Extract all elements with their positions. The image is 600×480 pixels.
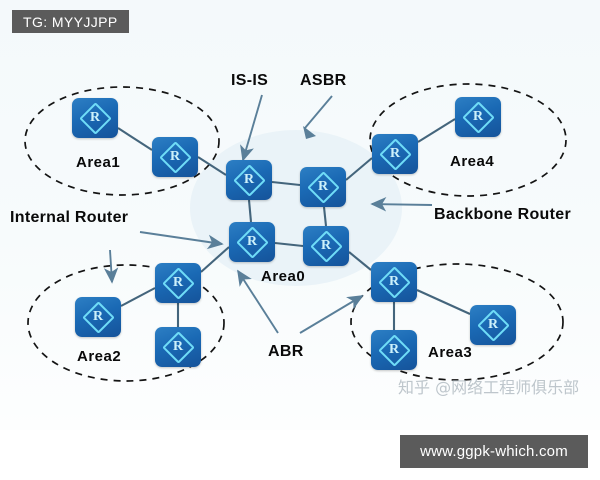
label-internal-router: Internal Router	[10, 209, 128, 227]
router-area3-internal[interactable]: R	[470, 305, 516, 345]
router-glyph: R	[75, 297, 121, 337]
router-glyph: R	[303, 226, 349, 266]
leader-backbone-router	[372, 204, 432, 205]
router-area0-top-left[interactable]: R	[226, 160, 272, 200]
router-glyph: R	[300, 167, 346, 207]
router-area1-abr[interactable]: R	[152, 137, 198, 177]
link-area2-abr-internal	[121, 288, 155, 306]
router-area2-lower[interactable]: R	[155, 327, 201, 367]
router-glyph: R	[229, 222, 275, 262]
label-abr: ABR	[268, 343, 304, 361]
router-glyph: R	[371, 262, 417, 302]
router-area2-internal[interactable]: R	[75, 297, 121, 337]
label-area0: Area0	[261, 268, 305, 285]
router-glyph: R	[455, 97, 501, 137]
url-badge: www.ggpk-which.com	[400, 435, 588, 468]
link-area4-abr-internal	[418, 119, 455, 142]
router-area4-internal[interactable]: R	[455, 97, 501, 137]
router-glyph: R	[155, 327, 201, 367]
router-area3-lower[interactable]: R	[371, 330, 417, 370]
router-glyph: R	[372, 134, 418, 174]
router-glyph: R	[226, 160, 272, 200]
label-is-is: IS-IS	[231, 72, 268, 90]
router-area3-abr[interactable]: R	[371, 262, 417, 302]
label-asbr: ASBR	[300, 72, 347, 90]
tag-badge: TG: MYYJJPP	[12, 10, 129, 33]
label-area2: Area2	[77, 348, 121, 365]
screenshot-root: R R R R R R R R R R R R	[0, 0, 600, 480]
router-area0-bottom-right[interactable]: R	[303, 226, 349, 266]
label-backbone-router: Backbone Router	[434, 206, 571, 224]
router-area0-bottom-left[interactable]: R	[229, 222, 275, 262]
router-area4-abr[interactable]: R	[372, 134, 418, 174]
router-glyph: R	[72, 98, 118, 138]
router-glyph: R	[152, 137, 198, 177]
leader-internal-router-down	[110, 250, 112, 282]
zhihu-watermark: 知乎 @网络工程师俱乐部	[398, 374, 579, 398]
leader-asbr	[305, 96, 332, 128]
router-area1-internal[interactable]: R	[72, 98, 118, 138]
link-area3-abr-internal	[417, 290, 470, 314]
label-area3: Area3	[428, 344, 472, 361]
label-area4: Area4	[450, 153, 494, 170]
link-area1-internal-abr	[118, 128, 152, 150]
router-glyph: R	[470, 305, 516, 345]
router-glyph: R	[155, 263, 201, 303]
router-area0-top-right[interactable]: R	[300, 167, 346, 207]
router-area2-abr[interactable]: R	[155, 263, 201, 303]
label-area1: Area1	[76, 154, 120, 171]
leader-abr-right	[300, 296, 362, 333]
router-glyph: R	[371, 330, 417, 370]
